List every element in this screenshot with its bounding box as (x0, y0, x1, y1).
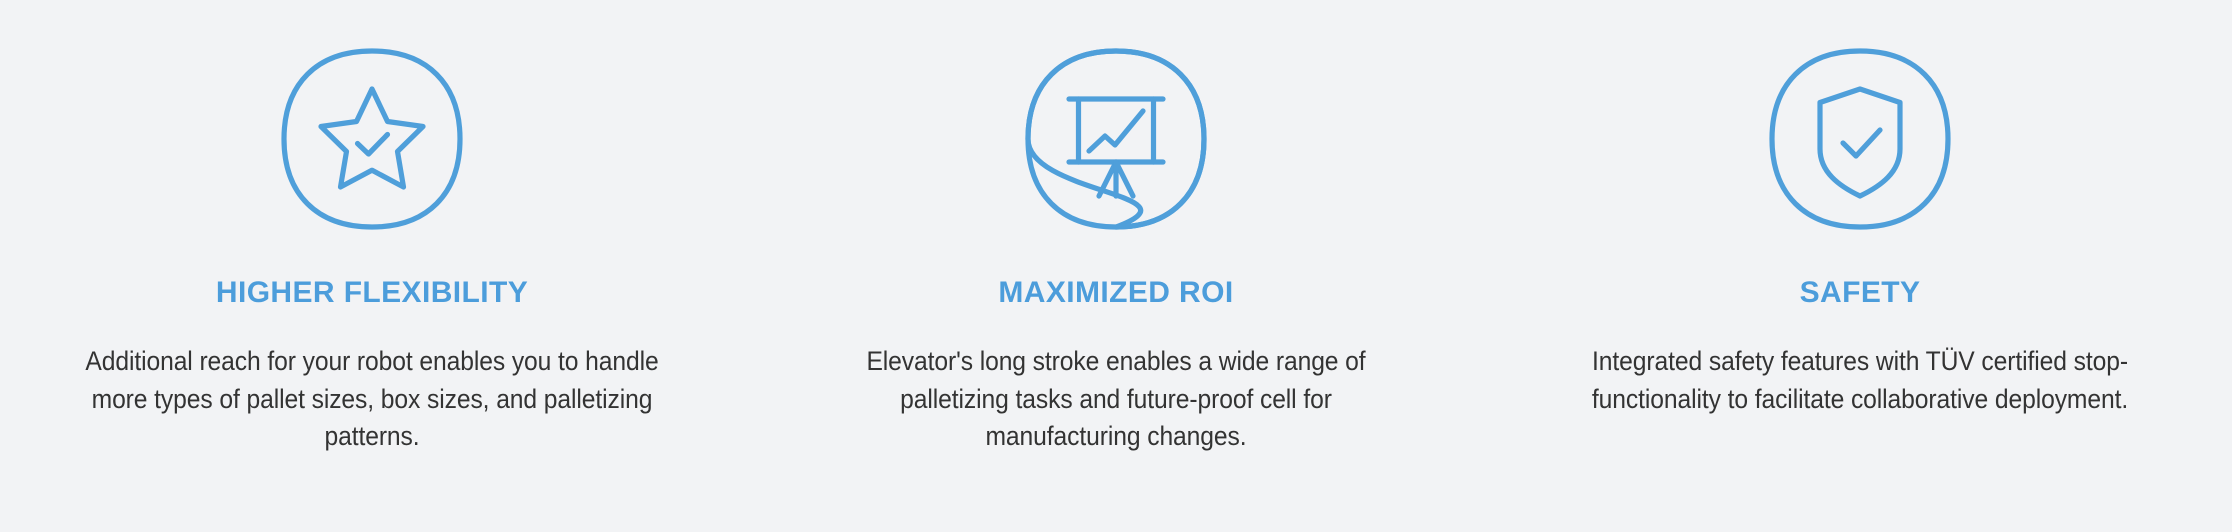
feature-card-maximized-roi: MAXIMIZED ROI Elevator's long stroke ena… (744, 0, 1488, 532)
presentation-chart-icon (1021, 44, 1211, 234)
feature-title: MAXIMIZED ROI (998, 276, 1233, 309)
feature-description: Additional reach for your robot enables … (84, 343, 661, 456)
feature-description: Elevator's long stroke enables a wide ra… (828, 343, 1405, 456)
feature-title: HIGHER FLEXIBILITY (216, 276, 528, 309)
feature-description: Integrated safety features with TÜV cert… (1572, 343, 2149, 418)
feature-card-higher-flexibility: HIGHER FLEXIBILITY Additional reach for … (0, 0, 744, 532)
shield-check-icon (1765, 44, 1955, 234)
feature-card-safety: SAFETY Integrated safety features with T… (1488, 0, 2232, 532)
feature-title: SAFETY (1800, 276, 1921, 309)
star-check-icon (277, 44, 467, 234)
features-section: HIGHER FLEXIBILITY Additional reach for … (0, 0, 2232, 532)
